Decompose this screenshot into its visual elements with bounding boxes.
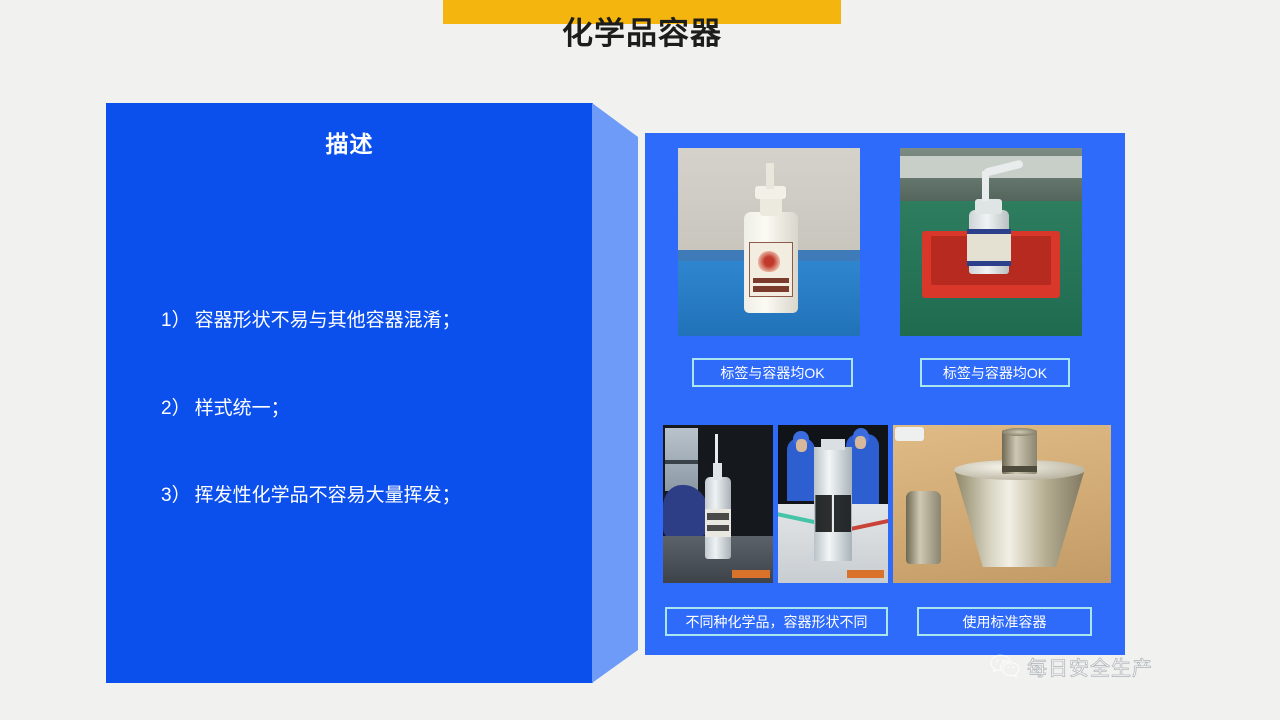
description-heading: 描述 — [106, 125, 593, 159]
list-item: 2）样式统一； — [161, 396, 581, 422]
caption-label: 标签与容器均OK — [920, 358, 1070, 387]
list-item-number: 1） — [161, 310, 191, 331]
list-item-number: 2） — [161, 398, 191, 419]
description-panel: 描述 1）容器形状不易与其他容器混淆； 2）样式统一； 3）挥发性化学品不容易大… — [106, 103, 638, 683]
watermark-text: 每日安全生产 — [1027, 652, 1153, 681]
photo-gloved-hand-holding-labeled-bottle — [663, 425, 773, 583]
wechat-icon — [990, 654, 1020, 680]
list-item-text: 样式统一； — [195, 398, 290, 419]
description-list: 1）容器形状不易与其他容器混淆； 2）样式统一； 3）挥发性化学品不容易大量挥发… — [161, 308, 581, 571]
description-panel-body: 描述 1）容器形状不易与其他容器混淆； 2）样式统一； 3）挥发性化学品不容易大… — [106, 103, 593, 683]
photo-white-squeeze-bottle-on-blue-table — [678, 148, 860, 336]
caption-label: 标签与容器均OK — [692, 358, 853, 387]
slide-canvas: 化学品容器 描述 1）容器形状不易与其他容器混淆； 2）样式统一； 3）挥发性化… — [0, 0, 1280, 720]
photo-panel: 标签与容器均OK 标签与容器均OK — [645, 133, 1125, 655]
list-item-text: 容器形状不易与其他容器混淆； — [195, 310, 461, 331]
list-item-number: 3） — [161, 485, 191, 506]
photo-metal-conical-standard-container — [893, 425, 1111, 583]
page-title: 化学品容器 — [443, 8, 841, 53]
photo-alcohol-glass-bottle — [778, 425, 888, 583]
list-item-text: 挥发性化学品不容易大量挥发； — [195, 485, 461, 506]
list-item: 1）容器形状不易与其他容器混淆； — [161, 308, 581, 334]
watermark: 每日安全生产 — [990, 652, 1153, 681]
photo-wash-bottle-in-red-tray — [900, 148, 1082, 336]
list-item: 3）挥发性化学品不容易大量挥发； — [161, 483, 581, 509]
caption-label: 不同种化学品，容器形状不同 — [665, 607, 888, 636]
panel-arrow-point — [592, 103, 638, 683]
caption-label: 使用标准容器 — [917, 607, 1092, 636]
